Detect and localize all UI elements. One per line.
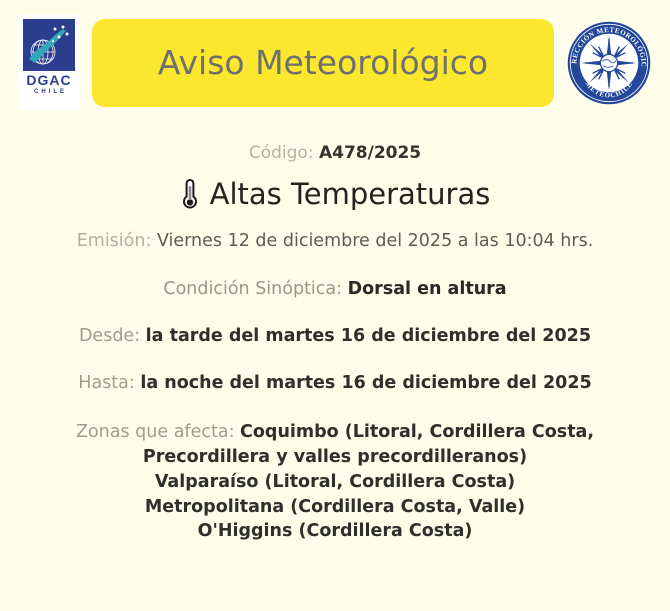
dgac-chile-logo: DGAC CHILE xyxy=(18,15,80,110)
emision-value: Viernes 12 de diciembre del 2025 a las 1… xyxy=(157,231,593,251)
zona-item: Metropolitana (Cordillera Costa, Valle) xyxy=(22,495,648,520)
title-banner: Aviso Meteorológico xyxy=(92,19,554,107)
desde-value: la tarde del martes 16 de diciembre del … xyxy=(146,326,591,346)
emision-label: Emisión: xyxy=(77,231,152,251)
meteochile-seal-icon: DIRECCIÓN METEOROLÓGICA METEOCHILE xyxy=(566,20,652,106)
zonas-row: Zonas que afecta: Coquimbo (Litoral, Cor… xyxy=(14,420,656,544)
sinoptica-value: Dorsal en altura xyxy=(348,279,507,299)
zona-item: Valparaíso (Litoral, Cordillera Costa) xyxy=(22,470,648,495)
alert-content: Código: A478/2025 Altas Temperaturas Emi… xyxy=(0,143,670,544)
codigo-label: Código: xyxy=(249,143,314,163)
sinoptica-label: Condición Sinóptica: xyxy=(163,279,342,299)
weather-alert-poster: DGAC CHILE Aviso Meteorológico xyxy=(0,0,670,611)
sinoptica-row: Condición Sinóptica: Dorsal en altura xyxy=(14,279,656,299)
evento-value: Altas Temperaturas xyxy=(210,177,491,211)
dgac-country-label: CHILE xyxy=(34,89,67,95)
poster-header: DGAC CHILE Aviso Meteorológico xyxy=(0,0,670,125)
banner-title-text: Aviso Meteorológico xyxy=(158,43,488,82)
thermometer-icon xyxy=(180,178,200,210)
emision-row: Emisión: Viernes 12 de diciembre del 202… xyxy=(14,231,656,251)
codigo-row: Código: A478/2025 xyxy=(14,143,656,163)
zonas-label: Zonas que afecta: xyxy=(76,422,234,442)
dgac-emblem-icon xyxy=(23,19,75,71)
codigo-value: A478/2025 xyxy=(319,143,421,163)
dgac-wordmark: DGAC xyxy=(26,73,71,88)
desde-label: Desde: xyxy=(79,326,140,346)
hasta-label: Hasta: xyxy=(78,373,134,393)
hasta-value: la noche del martes 16 de diciembre del … xyxy=(140,373,591,393)
hasta-row: Hasta: la noche del martes 16 de diciemb… xyxy=(14,373,656,393)
zona-item: O'Higgins (Cordillera Costa) xyxy=(22,519,648,544)
desde-row: Desde: la tarde del martes 16 de diciemb… xyxy=(14,326,656,346)
evento-row: Altas Temperaturas xyxy=(14,177,656,211)
